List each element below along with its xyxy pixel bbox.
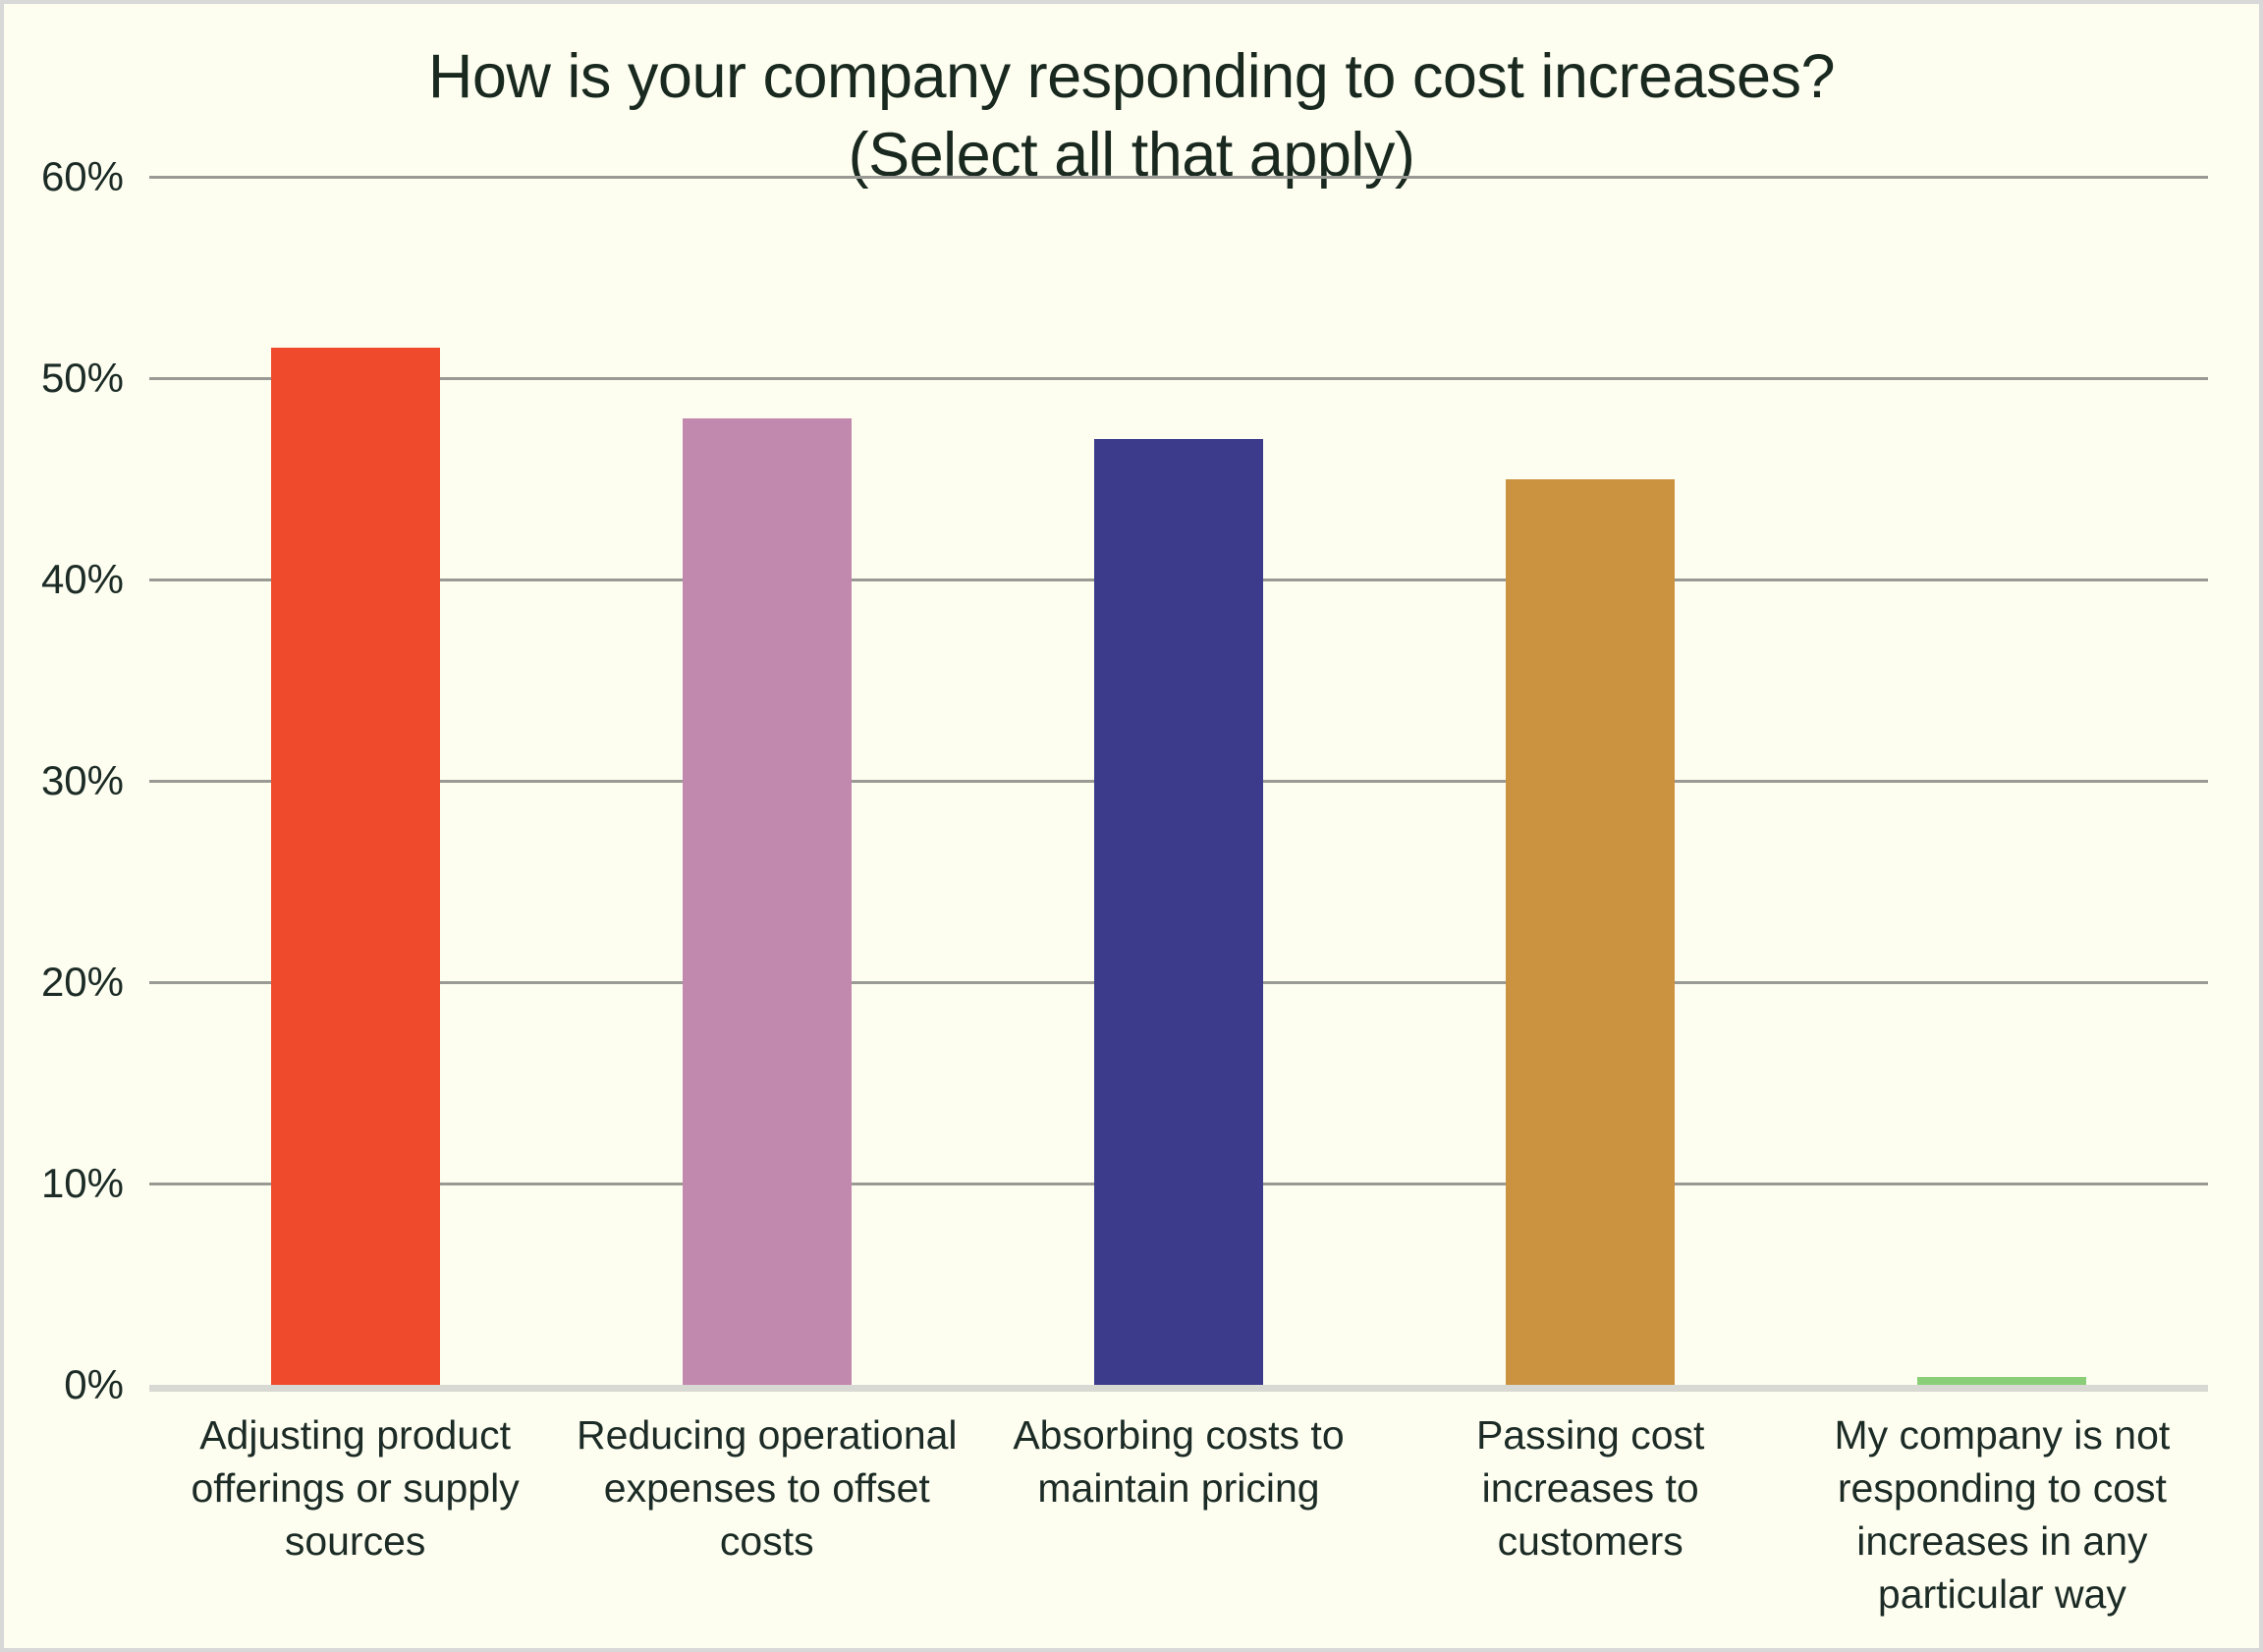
- y-axis-tick-label: 30%: [41, 760, 124, 801]
- x-axis-category-label: Absorbing costs to maintain pricing: [984, 1408, 1372, 1514]
- y-axis-tick-label: 20%: [41, 962, 124, 1003]
- bar[interactable]: [683, 418, 852, 1385]
- y-axis-tick-label: 60%: [41, 156, 124, 197]
- bar[interactable]: [1506, 479, 1675, 1386]
- bar-slot: [1796, 4, 2208, 1652]
- plot-area: 0%10%20%30%40%50%60% Adjusting product o…: [4, 4, 2263, 1652]
- bars-group: [149, 4, 2208, 1652]
- bar[interactable]: [1094, 439, 1263, 1386]
- x-axis-category-label: Reducing operational expenses to offset …: [573, 1408, 961, 1568]
- bar-slot: [149, 4, 561, 1652]
- x-axis-category-label: My company is not responding to cost inc…: [1808, 1408, 2196, 1621]
- x-axis-category-label: Adjusting product offerings or supply so…: [161, 1408, 549, 1568]
- y-axis-tick-label: 50%: [41, 358, 124, 399]
- y-axis-tick-labels: 0%10%20%30%40%50%60%: [4, 4, 141, 1652]
- y-axis-tick-label: 10%: [41, 1163, 124, 1204]
- x-axis-category-label: Passing cost increases to customers: [1397, 1408, 1785, 1568]
- bar-slot: [1385, 4, 1796, 1652]
- chart-canvas: How is your company responding to cost i…: [0, 0, 2263, 1652]
- bar-slot: [561, 4, 972, 1652]
- x-axis-category-labels: Adjusting product offerings or supply so…: [149, 1408, 2208, 1652]
- y-axis-tick-label: 0%: [64, 1364, 124, 1405]
- bar-slot: [972, 4, 1384, 1652]
- y-axis-tick-label: 40%: [41, 559, 124, 600]
- bar[interactable]: [1917, 1377, 2086, 1385]
- bar[interactable]: [271, 348, 440, 1385]
